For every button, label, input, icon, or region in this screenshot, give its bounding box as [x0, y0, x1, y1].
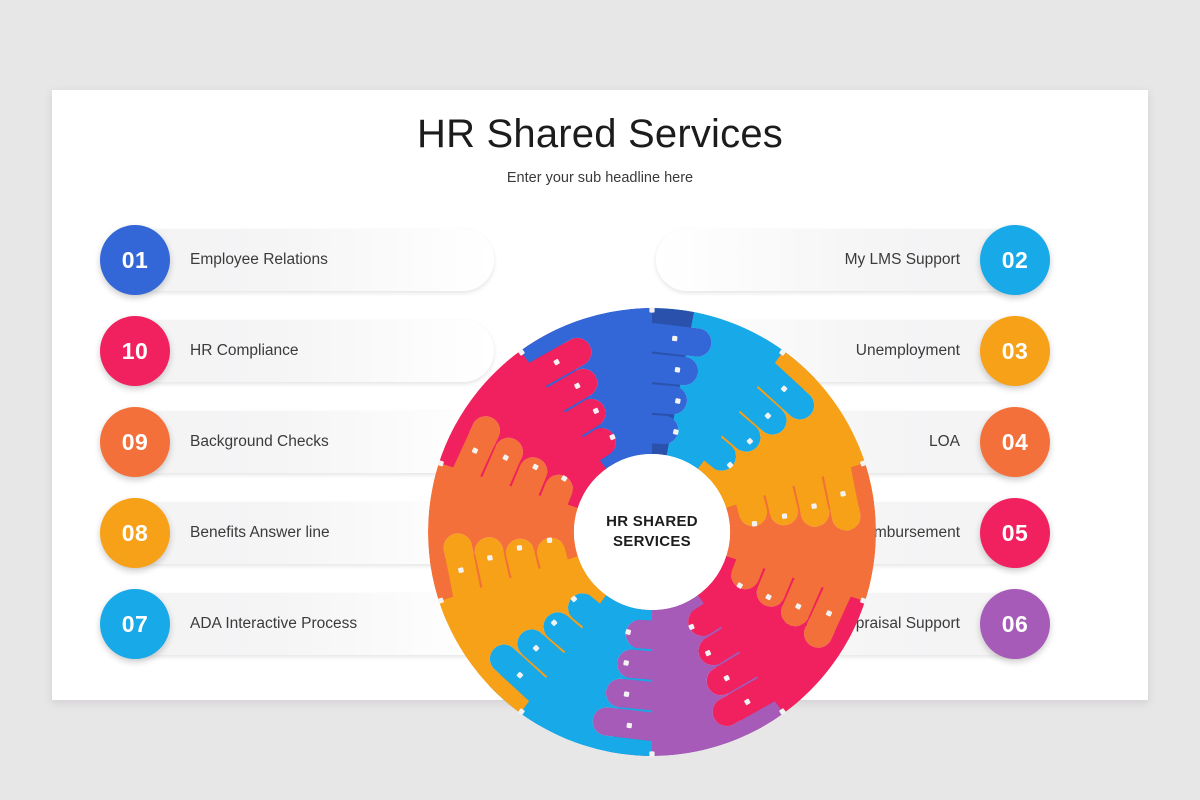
page-subtitle: Enter your sub headline here: [52, 170, 1148, 186]
item-number-badge: 07: [100, 589, 170, 659]
item-number-badge: 09: [100, 407, 170, 477]
joint-notch: [458, 567, 464, 573]
item-label: My LMS Support: [845, 229, 960, 291]
item-number-badge: 08: [100, 498, 170, 568]
joint-notch: [675, 398, 681, 404]
joint-notch: [840, 491, 846, 497]
joint-notch: [624, 691, 630, 697]
joint-notch: [623, 660, 629, 666]
joint-notch: [547, 537, 553, 543]
item-number-badge: 06: [980, 589, 1050, 659]
wheel-hub-text: HR SHARED SERVICES: [574, 454, 730, 610]
item-label: Benefits Answer line: [190, 502, 330, 564]
item-number-badge: 04: [980, 407, 1050, 477]
item-number-badge: 10: [100, 316, 170, 386]
item-number-badge: 03: [980, 316, 1050, 386]
item-label: ADA Interactive Process: [190, 593, 357, 655]
joint-notch: [672, 336, 678, 342]
puzzle-wheel-diagram: HR SHARED SERVICES: [418, 298, 886, 766]
joint-notch: [782, 513, 788, 519]
item-label: Employee Relations: [190, 229, 328, 291]
joint-notch: [649, 751, 654, 756]
joint-notch: [517, 545, 523, 551]
hub-line-2: SERVICES: [613, 532, 691, 552]
slide-card: HR Shared Services Enter your sub headli…: [52, 90, 1148, 700]
joint-notch: [811, 503, 817, 509]
joint-notch: [626, 723, 632, 729]
page-title: HR Shared Services: [52, 112, 1148, 157]
item-number-badge: 02: [980, 225, 1050, 295]
joint-notch: [752, 521, 758, 527]
item-number-badge: 01: [100, 225, 170, 295]
wheel-hub: HR SHARED SERVICES: [574, 454, 730, 610]
item-number-badge: 05: [980, 498, 1050, 568]
joint-notch: [487, 555, 493, 561]
item-label: HR Compliance: [190, 320, 299, 382]
list-item[interactable]: 01Employee Relations: [104, 229, 494, 291]
list-item[interactable]: 02My LMS Support: [656, 229, 1046, 291]
item-label: LOA: [929, 411, 960, 473]
joint-notch: [675, 367, 681, 373]
item-label: Background Checks: [190, 411, 329, 473]
joint-notch: [649, 307, 654, 312]
hub-line-1: HR SHARED: [606, 512, 698, 532]
